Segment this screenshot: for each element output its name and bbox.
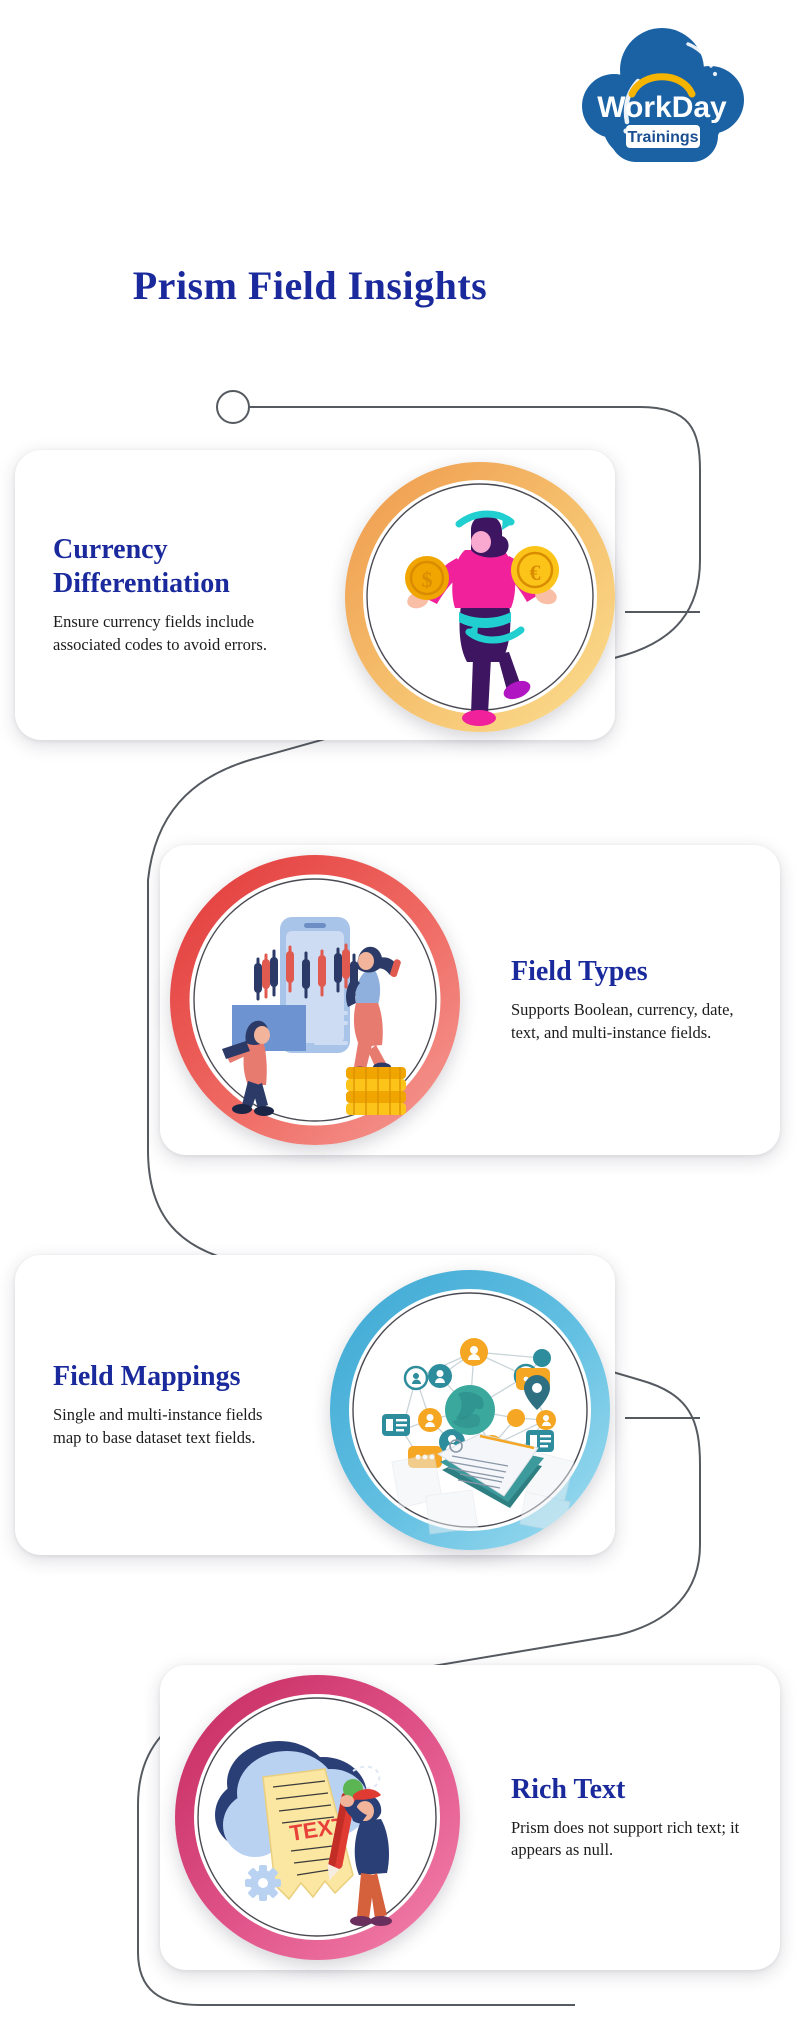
card-text-block: Currency Differentiation Ensure currency… (53, 533, 283, 657)
currency-juggler-illustration: $ € (345, 462, 615, 732)
gear-icon (245, 1865, 281, 1901)
coin-stack-icon (346, 1067, 406, 1115)
euro-coin-icon: € (511, 546, 559, 594)
card-title: Field Mappings (53, 1360, 283, 1394)
card-title: Rich Text (511, 1773, 746, 1807)
network-documents-illustration (330, 1270, 610, 1550)
workday-trainings-logo: WorkDay Trainings (570, 18, 750, 183)
globe-icon (445, 1385, 495, 1435)
card-body: Single and multi-instance fields map to … (53, 1404, 283, 1450)
logo-brand-secondary: Trainings (627, 129, 698, 146)
page-title: Prism Field Insights (0, 262, 620, 309)
market-analytics-illustration (170, 855, 460, 1145)
card-body: Supports Boolean, currency, date, text, … (511, 999, 746, 1045)
card-title: Field Types (511, 955, 746, 989)
card-text-block: Rich Text Prism does not support rich te… (511, 1773, 746, 1863)
card-body: Prism does not support rich text; it app… (511, 1817, 746, 1863)
connector-start-marker (217, 391, 249, 423)
card-text-block: Field Types Supports Boolean, currency, … (511, 955, 746, 1045)
card-text-block: Field Mappings Single and multi-instance… (53, 1360, 283, 1450)
card-body: Ensure currency fields include associate… (53, 611, 283, 657)
svg-text:€: € (530, 560, 541, 585)
infographic-page: WorkDay Trainings Prism Field Insights C… (0, 0, 800, 2039)
dollar-coin-icon: $ (405, 556, 449, 600)
svg-text:$: $ (422, 567, 433, 592)
card-title: Currency Differentiation (53, 533, 283, 601)
text-document-cloud-illustration: TEXT (175, 1675, 460, 1960)
logo-brand-primary: WorkDay (597, 91, 727, 124)
